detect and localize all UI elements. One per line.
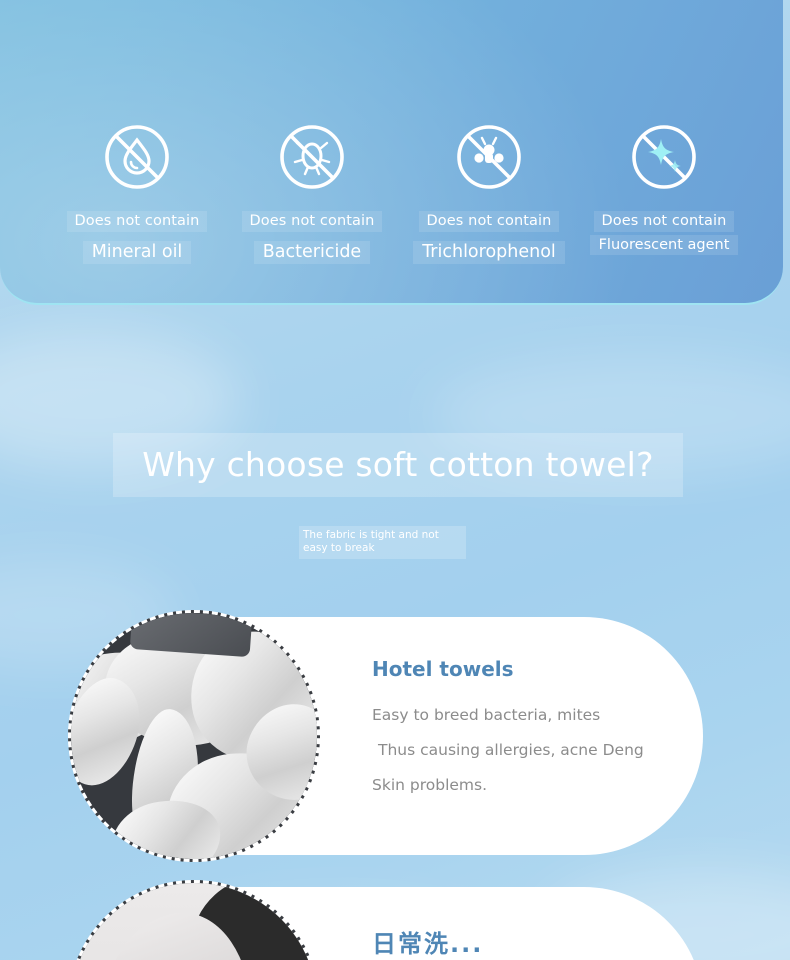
card-title: Hotel towels [372, 657, 692, 682]
badge-sub-label: Does not contain [242, 211, 383, 232]
badge-fluorescent-agent: Does not contain Fluorescent agent [579, 120, 749, 255]
no-fluorescent-agent-icon [627, 120, 701, 194]
no-bactericide-icon [275, 120, 349, 194]
badge-sub-label: Does not contain [67, 211, 208, 232]
badge-trichlorophenol: Does not contain Trichlorophenol [404, 120, 574, 264]
hotel-towels-photo [68, 610, 320, 862]
section-heading-band: Why choose soft cotton towel? [113, 433, 683, 497]
badge-row: Does not contain Mineral oil Does not co… [0, 0, 783, 305]
badge-name-label: Mineral oil [83, 241, 192, 264]
badge-bactericide: Does not contain Bactericide [227, 120, 397, 264]
no-mineral-oil-icon [100, 120, 174, 194]
badge-name-label: Trichlorophenol [413, 241, 565, 264]
badge-name-label: Fluorescent agent [590, 235, 739, 255]
page-title: Why choose soft cotton towel? [142, 445, 654, 485]
card-title: 日常洗... [372, 929, 692, 959]
face-towel-photo [68, 880, 320, 960]
card-line: Easy to breed bacteria, mites [372, 698, 692, 733]
section-subtitle: The fabric is tight and not easy to brea… [303, 529, 462, 555]
comparison-card-hotel-towels: Hotel towels Easy to breed bacteria, mit… [68, 617, 703, 855]
card-line: Thus causing allergies, acne Deng [372, 733, 692, 768]
card-line: Skin problems. [372, 768, 692, 803]
badge-sub-label: Does not contain [594, 211, 735, 232]
badge-name-label: Bactericide [254, 241, 370, 264]
section-subtitle-band: The fabric is tight and not easy to brea… [299, 526, 466, 559]
hotel-towels-text: Hotel towels Easy to breed bacteria, mit… [372, 657, 692, 803]
badge-sub-label: Does not contain [419, 211, 560, 232]
daily-wash-text: 日常洗... [372, 929, 692, 959]
ingredient-free-panel: Does not contain Mineral oil Does not co… [0, 0, 783, 305]
badge-mineral-oil: Does not contain Mineral oil [52, 120, 222, 264]
comparison-card-daily-wash: 日常洗... [68, 887, 703, 960]
no-trichlorophenol-icon [452, 120, 526, 194]
